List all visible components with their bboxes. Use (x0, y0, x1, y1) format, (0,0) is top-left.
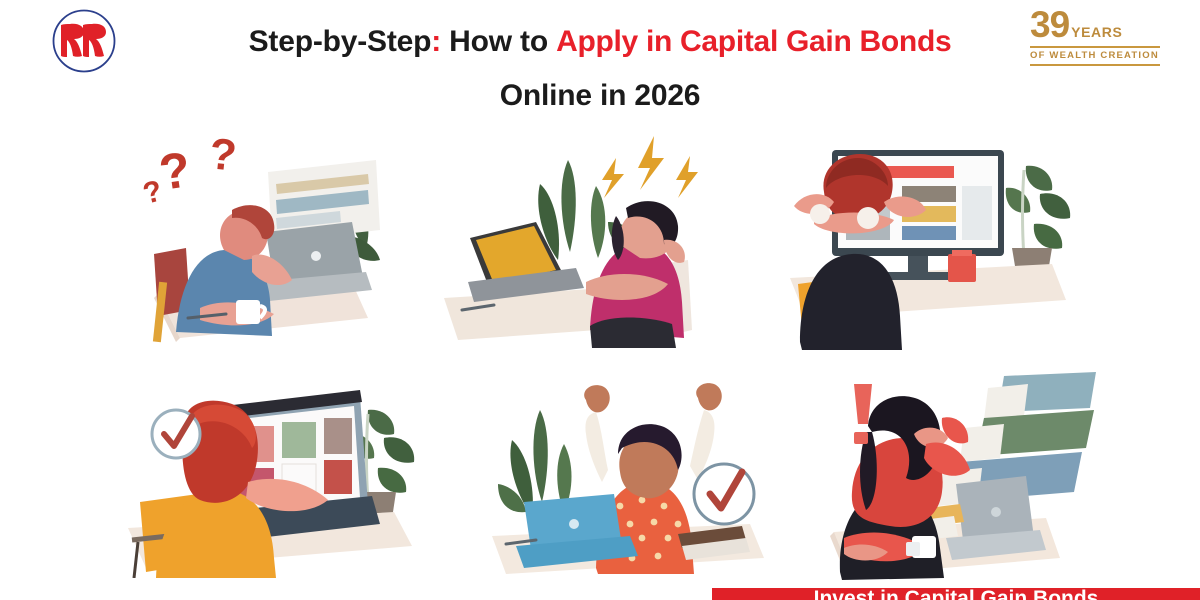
coffee-mug (948, 250, 976, 282)
bottom-cta-banner[interactable]: Invest in Capital Gain Bonds (712, 588, 1200, 600)
illustration-stressed-person-monitor (790, 132, 1080, 350)
anniversary-badge: 39 YEARS OF WEALTH CREATION (1030, 8, 1166, 66)
badge-divider-top (1030, 46, 1160, 48)
badge-divider-bottom (1030, 64, 1160, 66)
bottom-cta-label: Invest in Capital Gain Bonds (712, 588, 1200, 600)
rr-monogram-logo[interactable] (46, 4, 122, 78)
title-colon: : (431, 25, 441, 58)
question-mark-icon-medium: ? (156, 141, 194, 201)
question-mark-icons: ? ? ? (140, 132, 239, 211)
illustration-woman-alert-windows (828, 372, 1100, 580)
lightning-bolt-icon-center (638, 136, 664, 190)
success-check-icon (694, 464, 754, 524)
illustration-person-reviewing-laptop-approved (128, 382, 428, 578)
illustration-celebrating-woman-success (492, 378, 780, 578)
lightning-bolt-icon-left (602, 158, 624, 198)
title-line-2: Online in 2026 (0, 76, 1200, 116)
badge-headline: 39 YEARS (1030, 8, 1166, 42)
lightning-bolt-icon-right (676, 156, 698, 198)
illustration-confused-man-laptop: ? ? ? (140, 132, 385, 350)
title-prefix: Step-by-Step (249, 25, 432, 58)
approval-check-icon (152, 410, 200, 458)
badge-subtitle: OF WEALTH CREATION (1030, 50, 1166, 62)
badge-unit: YEARS (1071, 24, 1122, 42)
badge-number: 39 (1030, 8, 1069, 42)
question-mark-icon-large: ? (207, 132, 239, 181)
lightning-bolt-icons (602, 136, 698, 198)
page-title: Step-by-Step: How to Apply in Capital Ga… (0, 22, 1200, 116)
title-middle: How to (441, 25, 556, 58)
title-highlight: Apply in Capital Gain Bonds (556, 25, 951, 58)
poster-canvas: Step-by-Step: How to Apply in Capital Ga… (0, 0, 1200, 600)
illustration-frustrated-woman-laptop (440, 130, 705, 350)
title-line-1: Step-by-Step: How to Apply in Capital Ga… (0, 22, 1200, 62)
